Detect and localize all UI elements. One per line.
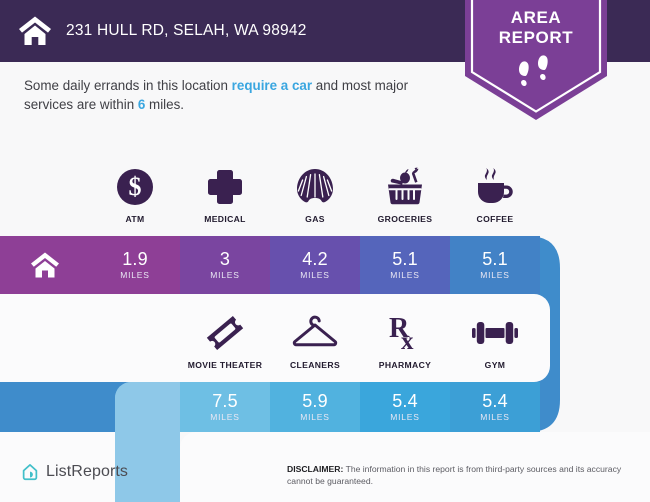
category-label: GAS xyxy=(305,214,325,224)
icon-row-secondary: MOVIE THEATER CLEANERS R x PHARMACY xyxy=(180,312,540,370)
category-movie-theater[interactable]: MOVIE THEATER xyxy=(180,312,270,370)
distance-cell-gym: 5.4 MILES xyxy=(450,382,540,432)
listreports-logo[interactable]: ListReports xyxy=(20,462,128,482)
distance-unit: MILES xyxy=(300,412,330,422)
distance-cell-movie-theater: 7.5 MILES xyxy=(180,382,270,432)
category-label: CLEANERS xyxy=(290,360,340,370)
medical-cross-icon xyxy=(206,166,244,208)
svg-text:x: x xyxy=(401,328,414,353)
distance-unit: MILES xyxy=(120,270,150,280)
category-cleaners[interactable]: CLEANERS xyxy=(270,312,360,370)
disclaimer: DISCLAIMER: The information in this repo… xyxy=(287,464,635,487)
category-label: GYM xyxy=(485,360,506,370)
distance-unit: MILES xyxy=(480,412,510,422)
disclaimer-label: DISCLAIMER: xyxy=(287,464,343,474)
coffee-cup-icon xyxy=(473,166,517,208)
clothes-hanger-icon xyxy=(292,312,338,354)
distance-value: 5.1 xyxy=(392,250,418,269)
distance-value: 4.2 xyxy=(302,250,328,269)
svg-text:$: $ xyxy=(129,172,142,201)
gas-shell-icon xyxy=(295,166,335,208)
distance-value: 5.1 xyxy=(482,250,508,269)
distance-row-secondary: 7.5 MILES 5.9 MILES 5.4 MILES 5.4 MILES xyxy=(115,382,540,432)
distance-cell-gas: 4.2 MILES xyxy=(270,236,360,294)
distance-unit: MILES xyxy=(210,270,240,280)
category-atm[interactable]: $ ATM xyxy=(90,166,180,224)
origin-home-cell xyxy=(0,236,90,294)
distance-row-primary: 1.9 MILES 3 MILES 4.2 MILES 5.1 MILES 5.… xyxy=(0,236,540,294)
distance-unit: MILES xyxy=(300,270,330,280)
listreports-house-icon xyxy=(20,462,40,482)
distance-value: 5.4 xyxy=(482,392,508,411)
icon-row-primary: $ ATM MEDICAL xyxy=(90,166,540,224)
distance-value: 5.9 xyxy=(302,392,328,411)
category-label: MOVIE THEATER xyxy=(188,360,263,370)
category-label: GROCERIES xyxy=(378,214,433,224)
summary-part1: Some daily errands in this location xyxy=(24,78,232,93)
category-label: ATM xyxy=(125,214,144,224)
category-label: MEDICAL xyxy=(204,214,246,224)
category-groceries[interactable]: GROCERIES xyxy=(360,166,450,224)
summary-text: Some daily errands in this location requ… xyxy=(24,76,454,114)
dumbbell-icon xyxy=(472,312,518,354)
distance-value: 3 xyxy=(220,250,230,269)
category-gym[interactable]: GYM xyxy=(450,312,540,370)
category-pharmacy[interactable]: R x PHARMACY xyxy=(360,312,450,370)
dollar-circle-icon: $ xyxy=(116,166,154,208)
secondary-row-lead-cell xyxy=(115,382,180,432)
summary-part3: miles. xyxy=(145,97,184,112)
grocery-basket-icon xyxy=(383,166,427,208)
distance-unit: MILES xyxy=(390,412,420,422)
home-icon xyxy=(30,251,60,279)
property-address: 231 HULL RD, SELAH, WA 98942 xyxy=(66,22,307,40)
category-gas[interactable]: GAS xyxy=(270,166,360,224)
distance-cell-atm: 1.9 MILES xyxy=(90,236,180,294)
distance-unit: MILES xyxy=(390,270,420,280)
distance-value: 5.4 xyxy=(392,392,418,411)
category-coffee[interactable]: COFFEE xyxy=(450,166,540,224)
distance-unit: MILES xyxy=(480,270,510,280)
category-label: PHARMACY xyxy=(379,360,431,370)
listreports-wordmark: ListReports xyxy=(46,463,128,481)
distance-cell-medical: 3 MILES xyxy=(180,236,270,294)
summary-highlight-car: require a car xyxy=(232,78,312,93)
distance-cell-groceries: 5.1 MILES xyxy=(360,236,450,294)
movie-ticket-icon xyxy=(204,312,246,354)
rx-icon: R x xyxy=(385,312,425,354)
distance-value: 7.5 xyxy=(212,392,238,411)
category-label: COFFEE xyxy=(477,214,514,224)
distance-cell-coffee: 5.1 MILES xyxy=(450,236,540,294)
distance-cell-pharmacy: 5.4 MILES xyxy=(360,382,450,432)
home-icon xyxy=(18,14,52,48)
area-report-badge: AREA REPORT xyxy=(465,0,607,126)
white-notch-left xyxy=(0,294,130,382)
distance-unit: MILES xyxy=(210,412,240,422)
distance-cell-cleaners: 5.9 MILES xyxy=(270,382,360,432)
area-report-infographic: $ ATM MEDICAL xyxy=(0,0,650,502)
distance-value: 1.9 xyxy=(122,250,148,269)
category-medical[interactable]: MEDICAL xyxy=(180,166,270,224)
